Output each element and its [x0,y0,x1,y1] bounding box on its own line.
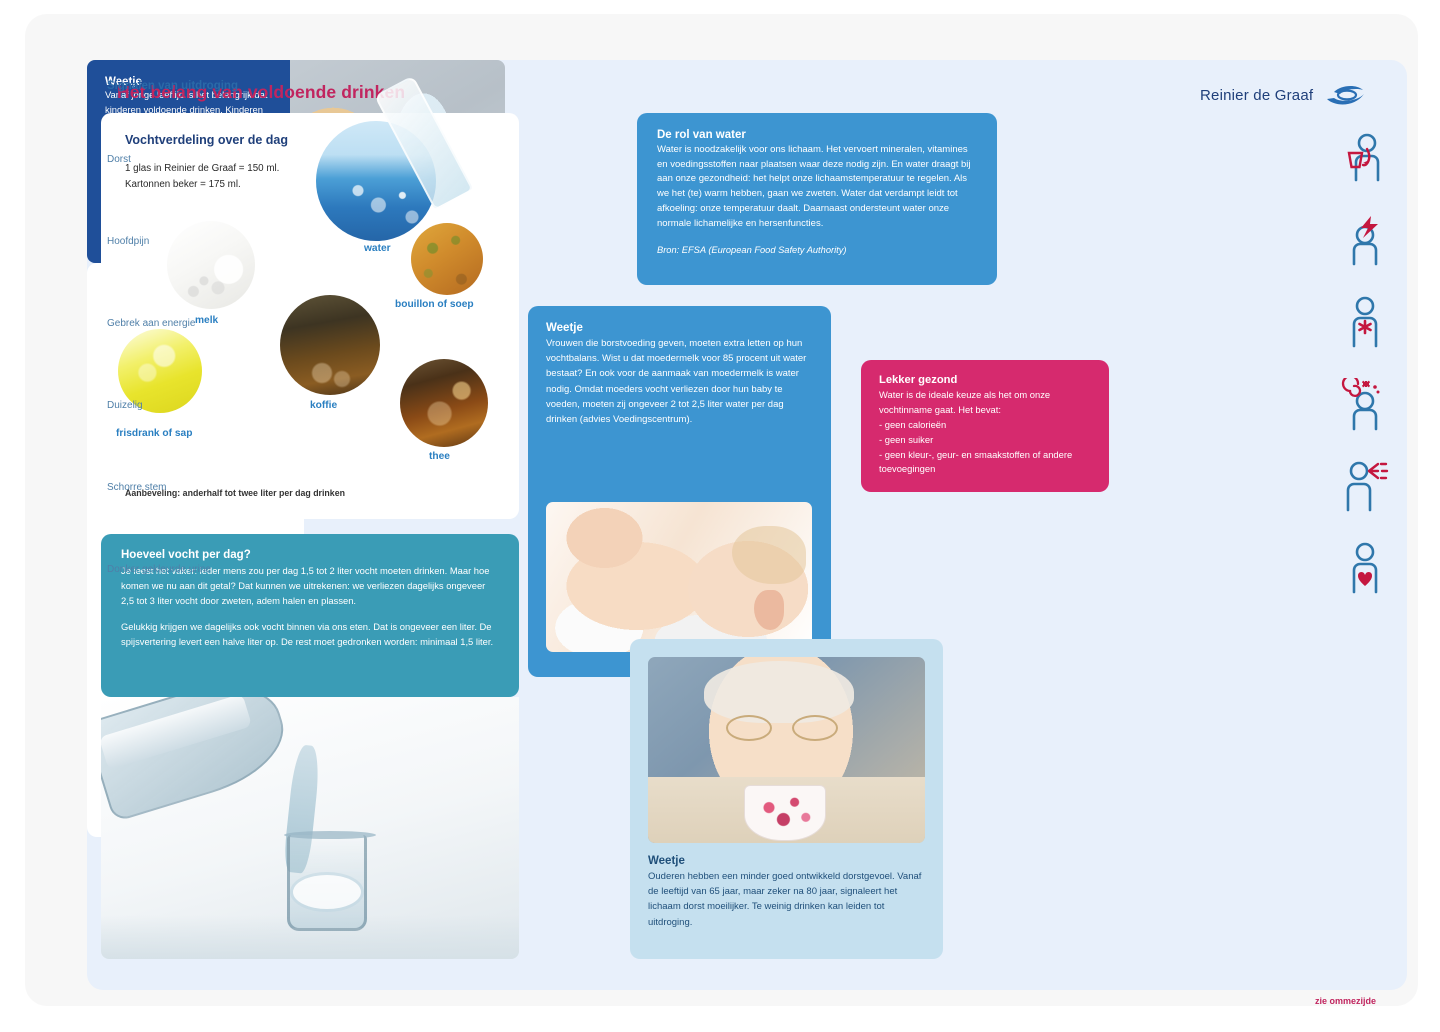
poster-panel: Het belang van voldoende drinken Reinier… [87,60,1407,990]
hoeveel-vocht-paragraph-2: Gelukkig krijgen we dagelijks ook vocht … [121,619,499,649]
figure-with-speech-lines-icon [1341,460,1389,514]
figure-with-lightning-icon [1341,214,1389,268]
signalen-label-duizelig: Duizelig [107,400,143,411]
footer-note: zie ommezijde [1315,996,1376,1006]
figure-with-star-icon [1341,296,1389,350]
eyeglasses-icon [726,715,838,741]
figure-with-bladder-icon [1341,542,1389,596]
figure-with-spiral-icon [1341,378,1389,432]
list-item: Hoofdpijn [87,200,1407,282]
water-pouring-photo [101,697,519,959]
signalen-label-schorre-stem: Schorre stem [107,482,166,493]
water-splash [293,875,361,909]
list-item: Schorre stem [87,446,1407,528]
list-item: Donker gekleurde urine [87,528,1407,610]
weetje-ouderen-text: Weetje Ouderen hebben een minder goed on… [648,855,930,930]
brand-logo: Reinier de Graaf [1200,82,1367,108]
logo-text: Reinier de Graaf [1200,87,1313,104]
weetje-ouderen-card: Weetje Ouderen hebben een minder goed on… [630,639,943,959]
swoosh-icon [1325,82,1367,108]
signalen-label-donker-gekleurde-urine: Donker gekleurde urine [107,564,211,575]
weetje-ouderen-title: Weetje [648,855,930,867]
list-item: Gebrek aan energie [87,282,1407,364]
signalen-label-hoofdpijn: Hoofdpijn [107,236,149,247]
elderly-woman-photo [648,657,925,843]
signalen-list: Dorst Hoofdpijn [87,118,1407,610]
signalen-label-gebrek-aan-energie: Gebrek aan energie [107,318,195,329]
list-item: Dorst [87,118,1407,200]
water-jug [101,697,296,823]
figure-with-glass-icon [1341,132,1389,186]
signalen-label-dorst: Dorst [107,154,131,165]
list-item: Duizelig [87,364,1407,446]
paper-sheet: Het belang van voldoende drinken Reinier… [25,14,1418,1006]
weetje-ouderen-body: Ouderen hebben een minder goed ontwikkel… [648,869,930,930]
elderly-hair [704,661,854,723]
poster-page: Het belang van voldoende drinken Reinier… [0,0,1440,1032]
signalen-title: Signalen van uitdroging [107,80,238,92]
floral-teacup [744,785,826,841]
